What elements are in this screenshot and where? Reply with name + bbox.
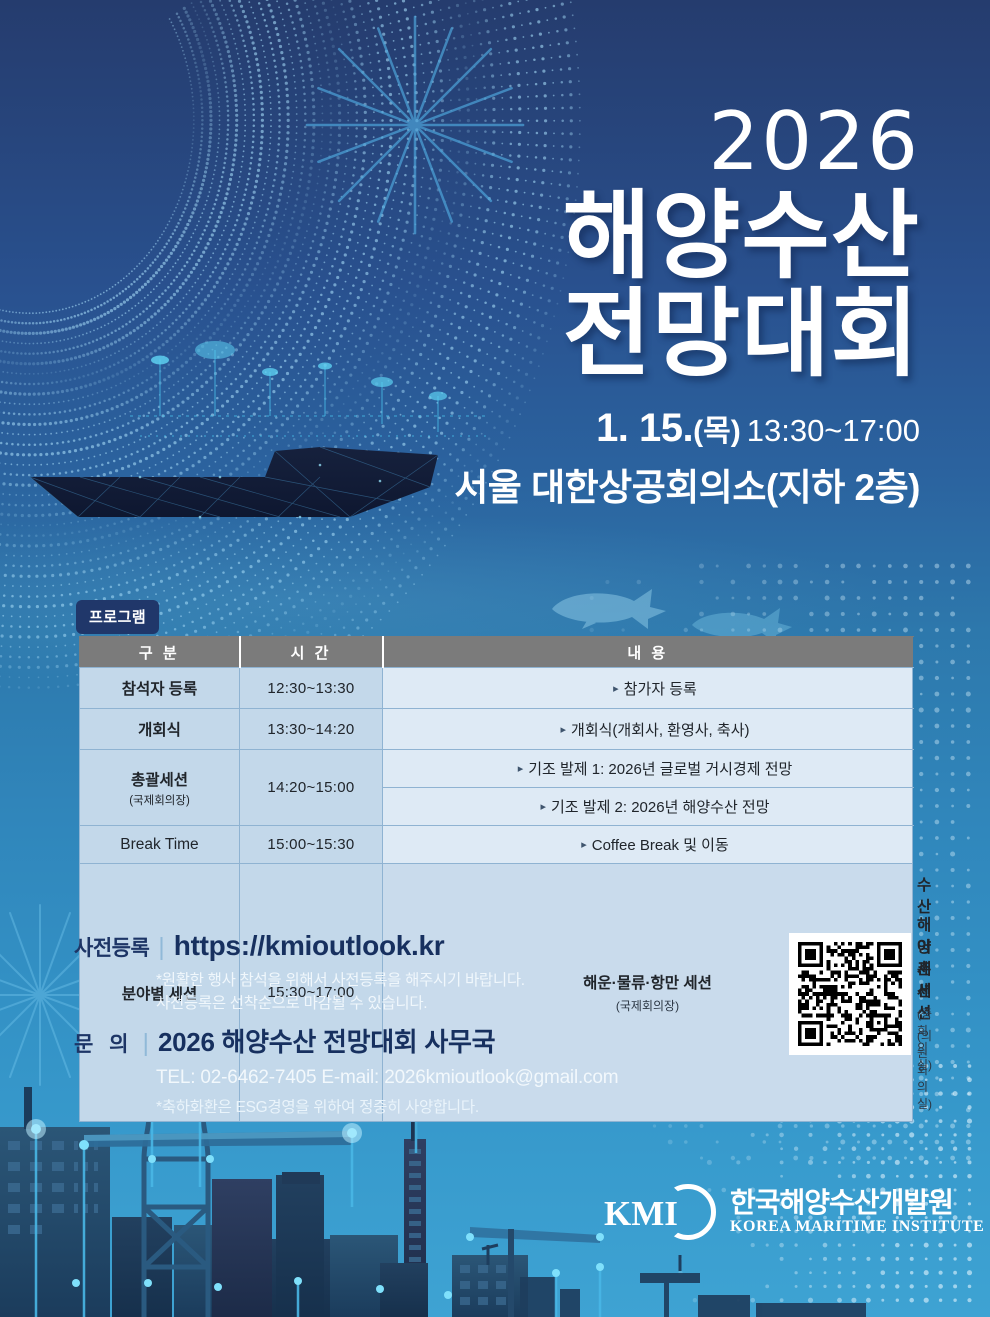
row-desc: ▸Coffee Break 및 이동 [383, 826, 913, 864]
row-time: 12:30~13:30 [240, 668, 383, 709]
kmi-logo-text: KMI [604, 1194, 678, 1234]
event-venue: 서울 대한상공회의소(지하 2층) [454, 457, 920, 511]
bullet-icon: ▸ [518, 763, 524, 775]
event-datetime: 1. 15.(목)13:30~17:00 [454, 406, 920, 451]
kmi-name-english: KOREA MARITIME INSTITUTE [730, 1218, 984, 1236]
contact-label: 문 의 [74, 1028, 133, 1058]
table-row: 참석자 등록 12:30~13:30 ▸참가자 등록 [80, 668, 913, 709]
row-desc-text: 기조 발제 1: 2026년 글로벌 거시경제 전망 [528, 761, 792, 778]
row-time: 14:20~15:00 [240, 750, 383, 826]
registration-note-2: 사전등록은 선착순으로 마감될 수 있습니다. [156, 992, 774, 1015]
row-category-text: 총괄세션 [131, 772, 188, 789]
qr-code[interactable] [789, 933, 911, 1055]
row-time: 13:30~14:20 [240, 709, 383, 750]
qr-code-image [798, 942, 902, 1046]
row-category: Break Time [80, 826, 240, 864]
registration-section: 사전등록 | https://kmioutlook.kr *원활한 행사 참석을… [74, 930, 774, 1016]
row-category-sub: (국제회의장) [80, 792, 239, 808]
page-title: 해양수산 전망대회 [454, 188, 920, 384]
bullet-icon: ▸ [561, 724, 567, 736]
divider: | [158, 933, 165, 962]
contact-office-name: 2026 해양수산 전망대회 사무국 [158, 1022, 495, 1059]
contact-section: 문 의 | 2026 해양수산 전망대회 사무국 TEL: 02-6462-74… [74, 1022, 794, 1117]
divider: | [142, 1029, 149, 1058]
row-desc-text: 기조 발제 2: 2026년 해양수산 전망 [551, 799, 770, 816]
row-desc: ▸참가자 등록 [383, 668, 913, 709]
row-time: 15:00~15:30 [240, 826, 383, 864]
row-desc-text: 개회식(개회사, 환영사, 축사) [571, 722, 749, 739]
poster-header: 2026 해양수산 전망대회 1. 15.(목)13:30~17:00 서울 대… [454, 104, 920, 511]
contact-tel-email: TEL: 02-6462-7405 E-mail: 2026kmioutlook… [74, 1067, 794, 1089]
event-year: 2026 [454, 104, 920, 180]
row-desc-text: 참가자 등록 [624, 681, 697, 698]
title-line-2: 전망대회 [454, 286, 920, 384]
table-header-row: 구 분 시 간 내 용 [80, 637, 913, 668]
event-date: 1. 15. [596, 406, 693, 450]
kmi-logo: KMI 한국해양수산개발원 KOREA MARITIME INSTITUTE [604, 1181, 984, 1243]
table-row: 개회식 13:30~14:20 ▸개회식(개회사, 환영사, 축사) [80, 709, 913, 750]
col-header-time: 시 간 [240, 637, 383, 668]
row-desc: ▸개회식(개회사, 환영사, 축사) [383, 709, 913, 750]
row-category: 개회식 [80, 709, 240, 750]
bullet-icon: ▸ [581, 839, 587, 851]
registration-note-1: *원활한 행사 참석을 위해서 사전등록을 해주시기 바랍니다. [156, 969, 774, 992]
row-desc: ▸기조 발제 1: 2026년 글로벌 거시경제 전망 [383, 750, 913, 788]
registration-row: 사전등록 | https://kmioutlook.kr [74, 930, 774, 962]
registration-url[interactable]: https://kmioutlook.kr [174, 930, 445, 962]
row-category: 총괄세션 (국제회의장) [80, 750, 240, 826]
row-desc: ▸기조 발제 2: 2026년 해양수산 전망 [383, 788, 913, 826]
table-row: 총괄세션 (국제회의장) 14:20~15:00 ▸기조 발제 1: 2026년… [80, 750, 913, 788]
poster-root: 2026 해양수산 전망대회 1. 15.(목)13:30~17:00 서울 대… [0, 0, 990, 1317]
col-header-content: 내 용 [383, 637, 913, 668]
bullet-icon: ▸ [613, 683, 619, 695]
program-badge: 프로그램 [76, 600, 159, 634]
table-row: Break Time 15:00~15:30 ▸Coffee Break 및 이… [80, 826, 913, 864]
event-weekday: (목) [693, 415, 741, 448]
contact-row: 문 의 | 2026 해양수산 전망대회 사무국 [74, 1022, 794, 1059]
bullet-icon: ▸ [540, 801, 546, 813]
kmi-name-korean: 한국해양수산개발원 [730, 1188, 984, 1217]
ship-silhouette [20, 425, 450, 545]
registration-notes: *원활한 행사 참석을 위해서 사전등록을 해주시기 바랍니다. 사전등록은 선… [74, 969, 774, 1016]
kmi-logo-mark: KMI [604, 1181, 722, 1243]
kmi-logo-words: 한국해양수산개발원 KOREA MARITIME INSTITUTE [730, 1188, 984, 1236]
registration-label: 사전등록 [74, 932, 149, 962]
row-desc-text: Coffee Break 및 이동 [592, 837, 729, 854]
title-line-1: 해양수산 [454, 188, 920, 286]
col-header-category: 구 분 [80, 637, 240, 668]
contact-footnote: *축하화환은 ESG경영을 위하여 정중히 사양합니다. [74, 1095, 794, 1117]
event-time: 13:30~17:00 [747, 413, 920, 448]
row-category: 참석자 등록 [80, 668, 240, 709]
